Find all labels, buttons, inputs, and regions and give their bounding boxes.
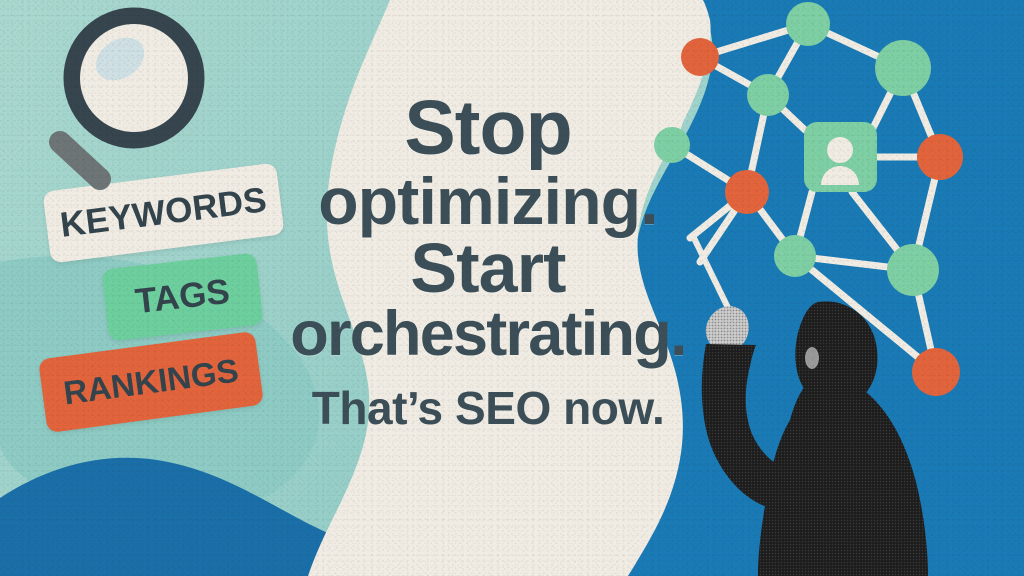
magnifying-glass-icon — [38, 4, 238, 219]
tag-rankings-label: RANKINGS — [61, 352, 240, 413]
headline-line-4: orchestrating. — [286, 304, 690, 364]
headline-block: Stop optimizing. Start orchestrating. Th… — [286, 92, 690, 431]
headline-line-2: optimizing. — [286, 170, 690, 233]
conductor-ear — [805, 347, 819, 369]
conductor-baton — [693, 236, 733, 318]
headline-line-3: Start — [286, 235, 690, 302]
headline-line-1: Stop — [286, 92, 690, 166]
magnifier-handle — [60, 142, 100, 179]
tag-tags-label: TAGS — [133, 272, 232, 322]
headline-subline: That’s SEO now. — [286, 385, 690, 431]
poster-canvas: KEYWORDS TAGS RANKINGS Stop optimizing. … — [0, 0, 1024, 576]
